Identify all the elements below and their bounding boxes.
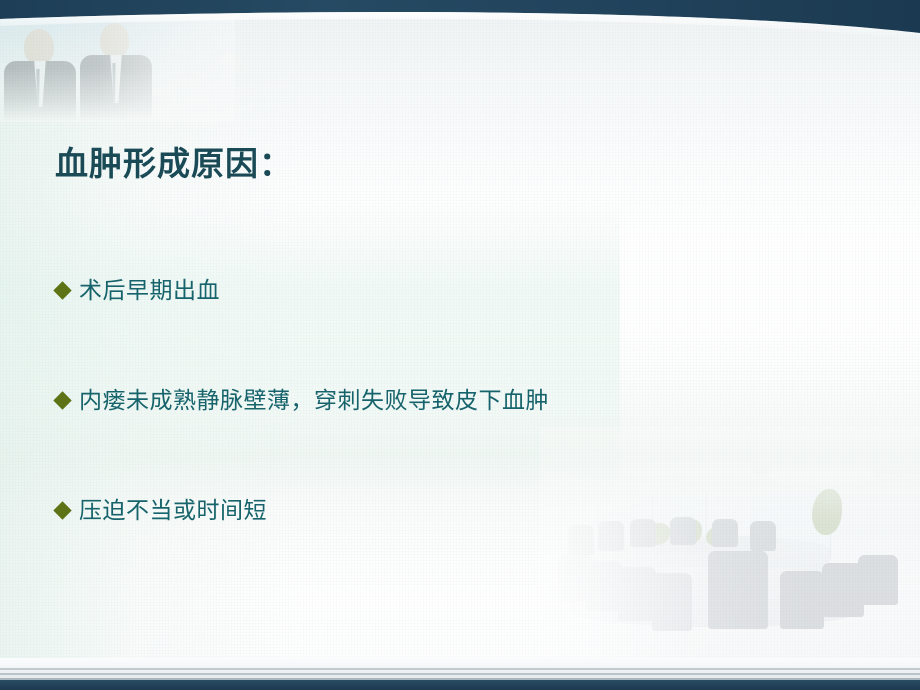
slide-footer — [0, 658, 920, 690]
bullet-item: 术后早期出血 — [56, 268, 876, 312]
diamond-bullet-icon — [53, 281, 71, 299]
bullet-item: 内瘘未成熟静脉壁薄，穿刺失败导致皮下血肿 — [56, 378, 876, 422]
bullet-item-text: 内瘘未成熟静脉壁薄，穿刺失败导致皮下血肿 — [79, 386, 549, 415]
bullet-item-text: 术后早期出血 — [79, 276, 220, 305]
bullet-item: 压迫不当或时间短 — [56, 488, 876, 532]
bullet-item-text: 压迫不当或时间短 — [79, 496, 267, 525]
diamond-bullet-icon — [53, 391, 71, 409]
diamond-bullet-icon — [53, 501, 71, 519]
bullet-list: 术后早期出血 内瘘未成熟静脉壁薄，穿刺失败导致皮下血肿 压迫不当或时间短 — [56, 268, 876, 532]
slide-header-band — [0, 0, 920, 60]
presentation-slide: 血肿形成原因： 术后早期出血 内瘘未成熟静脉壁薄，穿刺失败导致皮下血肿 压迫不当… — [0, 0, 920, 690]
footer-navy-bar — [0, 680, 920, 690]
slide-title: 血肿形成原因： — [55, 144, 293, 184]
footer-gap — [0, 658, 920, 668]
